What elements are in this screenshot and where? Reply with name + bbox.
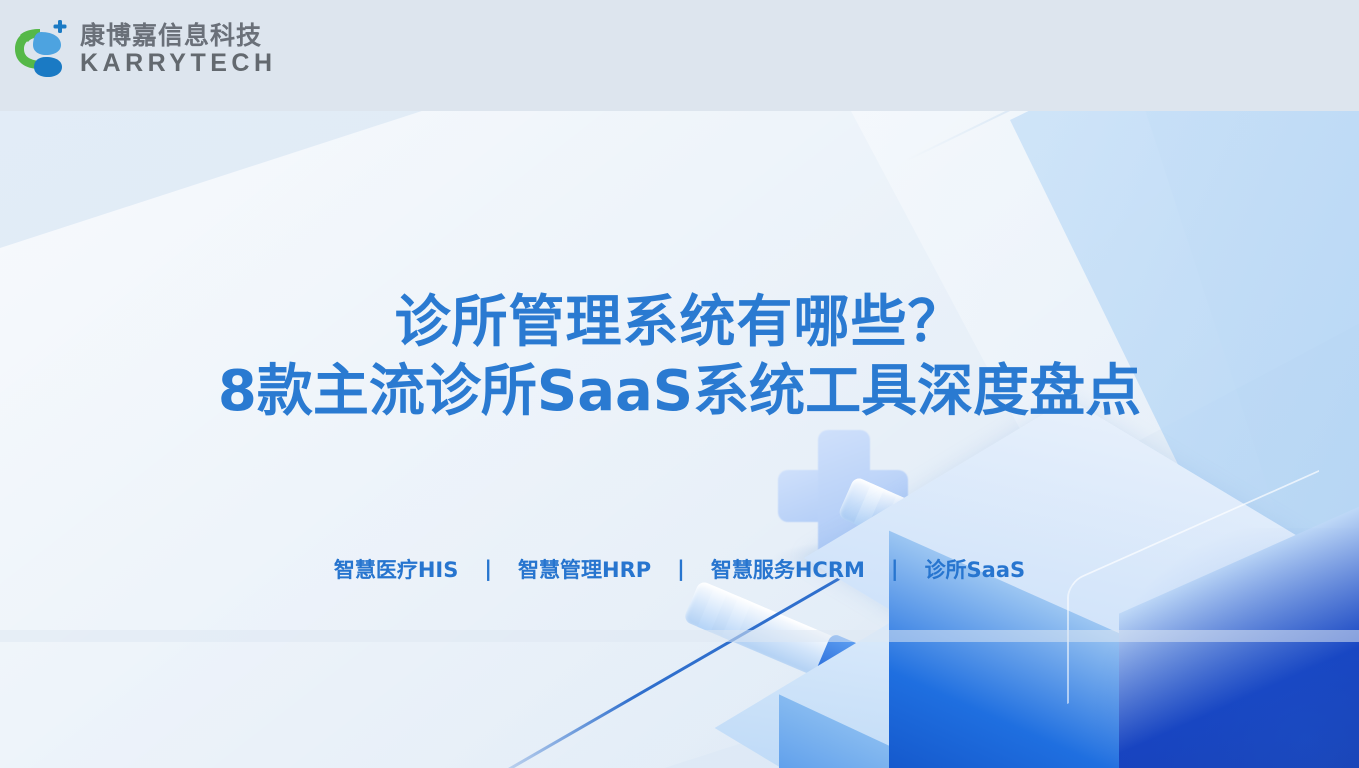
brand-logo[interactable]: 康博嘉信息科技 KARRYTECH [10,18,277,80]
tagline-item-hrp: 智慧管理HRP [518,554,651,584]
brand-name-en: KARRYTECH [80,51,277,76]
tagline-item-his: 智慧医疗HIS [334,554,459,584]
tagline-row: 智慧医疗HIS | 智慧管理HRP | 智慧服务HCRM | 诊所SaaS [0,554,1359,584]
tagline-separator: | [677,557,685,581]
tagline-item-saas: 诊所SaaS [925,554,1026,584]
lower-band [0,630,1359,642]
poster-canvas: 康博嘉信息科技 KARRYTECH 诊所管理系统有哪些？ 8款主流诊所SaaS系… [0,0,1359,768]
brand-logo-text: 康博嘉信息科技 KARRYTECH [80,23,277,76]
tagline-item-hcrm: 智慧服务HCRM [711,554,865,584]
page-title: 诊所管理系统有哪些？ 8款主流诊所SaaS系统工具深度盘点 [0,288,1359,427]
karrytech-logo-icon [10,18,72,80]
brand-name-cn: 康博嘉信息科技 [80,23,277,48]
headline-line-1: 诊所管理系统有哪些？ [0,288,1359,357]
headline-line-2: 8款主流诊所SaaS系统工具深度盘点 [0,357,1359,426]
tagline-separator: | [891,557,899,581]
tagline-separator: | [484,557,492,581]
